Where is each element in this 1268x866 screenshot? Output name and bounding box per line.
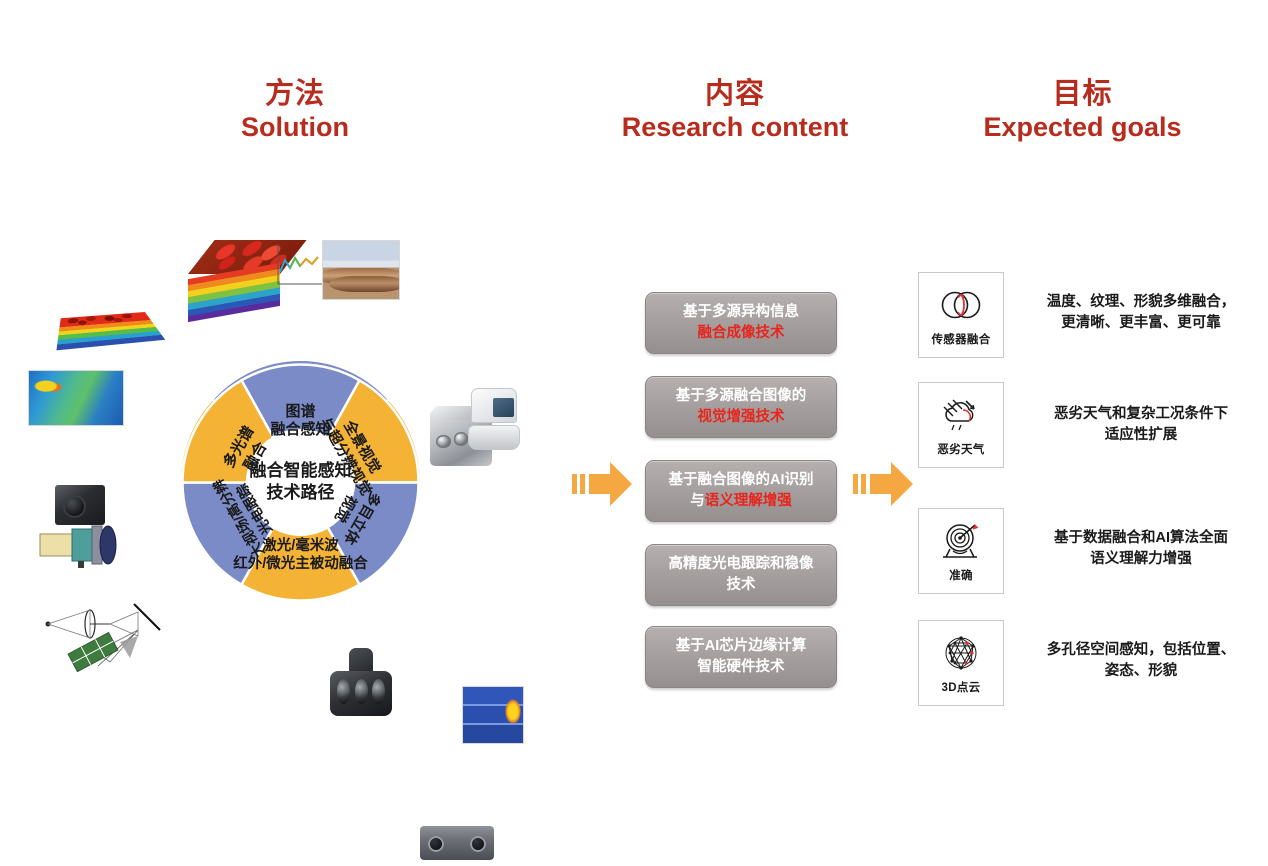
goal-text-2-line2: 适应性扩展 (1025, 425, 1257, 446)
technology-roadmap-donut: 图谱 融合感知 全景视觉 与超分辨视觉 多目立体 视觉 激光/毫米波 红外/微光… (118, 300, 483, 665)
research-box-5[interactable]: 基于AI芯片边缘计算 智能硬件技术 (645, 626, 837, 688)
goal-text-sensor-fusion: 温度、纹理、形貌多维融合， 更清晰、更丰富、更可靠 (1025, 292, 1257, 334)
goal-card-accuracy[interactable]: 准确 (918, 508, 1004, 594)
goal-card-label-severe-weather: 恶劣天气 (937, 441, 984, 457)
image-structured-light-bricks (462, 686, 524, 744)
image-stereo-bar-sensor (420, 826, 494, 860)
goal-text-1-line1: 温度、纹理、形貌多维融合， (1025, 292, 1257, 313)
goal-text-severe-weather: 恶劣天气和复杂工况条件下 适应性扩展 (1025, 404, 1257, 446)
stereo-lens-left (428, 836, 444, 852)
research-box-1[interactable]: 基于多源异构信息 融合成像技术 (645, 292, 837, 354)
arrow-content-to-goals (853, 458, 915, 510)
target-accuracy-icon (938, 519, 984, 563)
goal-text-accuracy: 基于数据融合和AI算法全面 语义理解力增强 (1025, 528, 1257, 570)
header-en-solution: Solution (175, 112, 415, 142)
donut-label-laser-line1: 激光/毫米波 (262, 536, 339, 554)
goal-card-label-sensor-fusion: 传感器融合 (932, 331, 991, 347)
research-box-4-line2: 技术 (669, 575, 814, 596)
goal-text-point-cloud: 多孔径空间感知，包括位置、 姿态、形貌 (1025, 640, 1257, 682)
header-en-goals: Expected goals (955, 112, 1210, 142)
image-thermal-false-color (28, 370, 124, 426)
arrow-solution-to-content (572, 458, 634, 510)
donut-label-atlas-line1: 图谱 (285, 402, 315, 420)
column-header-research-content: 内容 Research content (600, 78, 870, 143)
research-box-5-line1: 基于AI芯片边缘计算 (676, 636, 807, 657)
header-cn-solution: 方法 (175, 78, 415, 110)
goal-text-2-line1: 恶劣天气和复杂工况条件下 (1025, 404, 1257, 425)
goal-card-point-cloud[interactable]: 3D点云 (918, 620, 1004, 706)
sensor-fusion-icon (938, 283, 984, 327)
goal-text-4-line1: 多孔径空间感知，包括位置、 (1025, 640, 1257, 661)
goal-text-1-line2: 更清晰、更丰富、更可靠 (1025, 313, 1257, 334)
column-header-solution: 方法 Solution (175, 78, 415, 143)
goal-card-severe-weather[interactable]: 恶劣天气 (918, 382, 1004, 468)
goal-card-label-accuracy: 准确 (949, 567, 973, 583)
point-cloud-icon (939, 631, 983, 675)
donut-center-line2: 技术路径 (206, 483, 396, 506)
stereo-lens-right (470, 836, 486, 852)
ptz-screen (493, 398, 514, 417)
image-compact-camera-module (55, 485, 105, 525)
donut-center-label: 融合智能感知 技术路径 (206, 460, 396, 506)
image-spectral-curve-plot (268, 238, 326, 298)
image-industrial-pipeline-photo (322, 240, 400, 300)
column-header-expected-goals: 目标 Expected goals (955, 78, 1210, 143)
research-box-4-line1: 高精度光电跟踪和稳像 (669, 554, 814, 575)
turret-optic (355, 679, 368, 703)
diagram-canvas: 方法 Solution 内容 Research content 目标 Expec… (0, 0, 1268, 866)
research-box-2-line2: 视觉增强技术 (676, 407, 807, 428)
goal-text-3-line1: 基于数据融合和AI算法全面 (1025, 528, 1257, 549)
research-box-2[interactable]: 基于多源融合图像的 视觉增强技术 (645, 376, 837, 438)
research-box-3-highlight: 语义理解增强 (705, 493, 792, 509)
research-box-3-prefix: 与 (690, 493, 705, 509)
research-box-1-line1: 基于多源异构信息 (683, 302, 799, 323)
goal-card-sensor-fusion[interactable]: 传感器融合 (918, 272, 1004, 358)
goal-card-label-point-cloud: 3D点云 (942, 679, 981, 695)
header-en-content: Research content (600, 112, 870, 142)
header-cn-goals: 目标 (955, 78, 1210, 110)
research-box-3[interactable]: 基于融合图像的AI识别 与语义理解增强 (645, 460, 837, 522)
image-optical-assembly-schematic (38, 520, 130, 570)
goal-text-3-line2: 语义理解力增强 (1025, 549, 1257, 570)
research-box-3-line1: 基于融合图像的AI识别 (669, 470, 814, 491)
research-box-1-line2: 融合成像技术 (683, 323, 799, 344)
turret-optic (372, 679, 385, 703)
header-cn-content: 内容 (600, 78, 870, 110)
research-box-2-line1: 基于多源融合图像的 (676, 386, 807, 407)
severe-weather-icon (938, 393, 984, 437)
research-box-4[interactable]: 高精度光电跟踪和稳像 技术 (645, 544, 837, 606)
research-box-3-line2: 与语义理解增强 (669, 491, 814, 512)
donut-center-line1: 融合智能感知 (206, 460, 396, 483)
research-box-5-line2: 智能硬件技术 (676, 657, 807, 678)
goal-text-4-line2: 姿态、形貌 (1025, 661, 1257, 682)
